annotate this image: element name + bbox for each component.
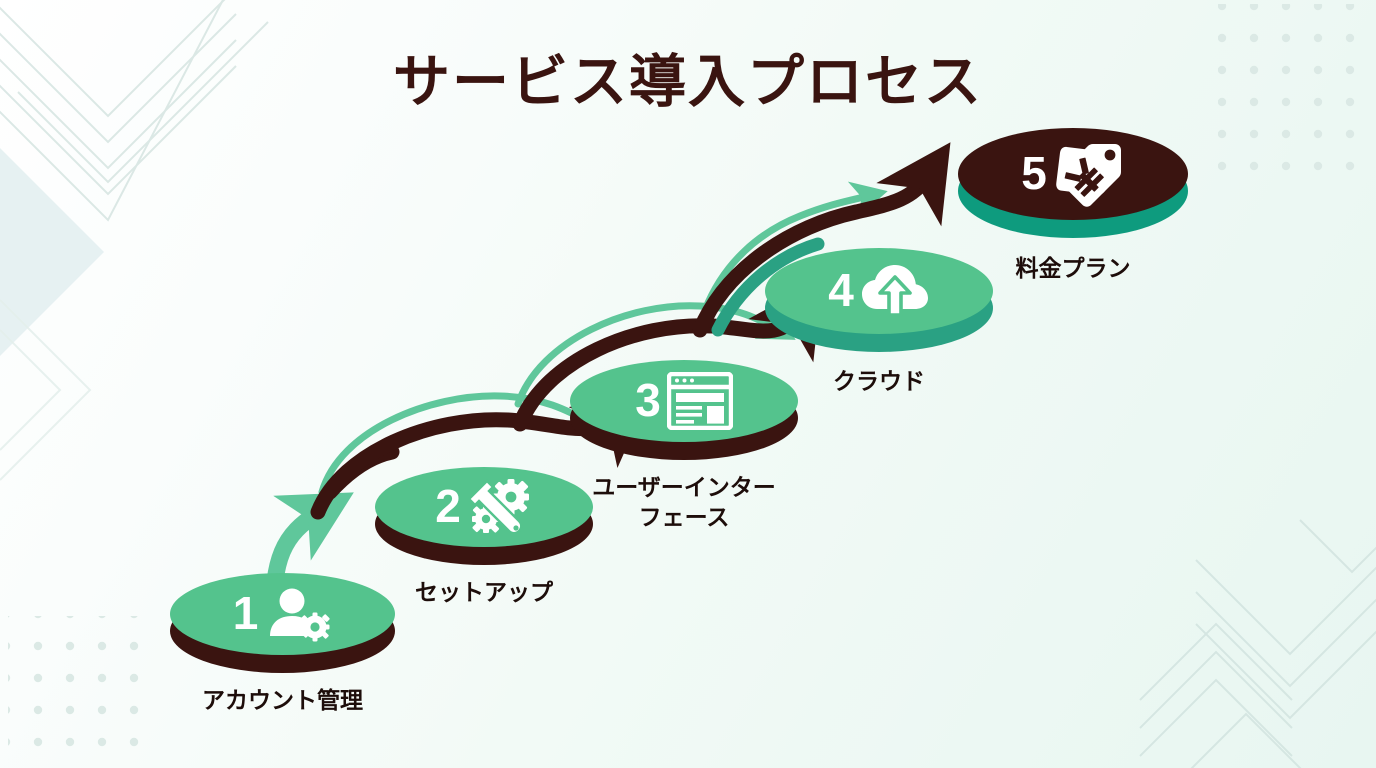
browser-window-icon — [667, 372, 733, 430]
step-number-1: 1 — [233, 590, 259, 636]
step-number-4: 4 — [828, 267, 854, 313]
wrench-gear-icon — [467, 477, 533, 537]
step-caption-2: セットアップ — [330, 577, 638, 607]
process-diagram: 1 — [0, 0, 1376, 768]
step-node-5[interactable]: 5 — [958, 128, 1188, 238]
step-number-5: 5 — [1021, 150, 1047, 196]
step-number-3: 3 — [635, 377, 661, 423]
step-caption-5: 料金プラン — [922, 253, 1224, 283]
price-tag-yen-icon — [1053, 138, 1125, 210]
cloud-upload-icon — [860, 263, 930, 319]
slide-canvas: サービス導入プロセス — [0, 0, 1376, 768]
step-caption-4: クラウド — [727, 366, 1031, 396]
user-gear-icon — [264, 584, 332, 644]
step-disc-top-5: 5 — [958, 128, 1188, 220]
step-disc-5: 5 — [958, 128, 1188, 238]
step-caption-3: ユーザーインター フェース — [528, 472, 840, 533]
step-caption-1: アカウント管理 — [106, 685, 459, 715]
step-number-2: 2 — [435, 483, 461, 529]
